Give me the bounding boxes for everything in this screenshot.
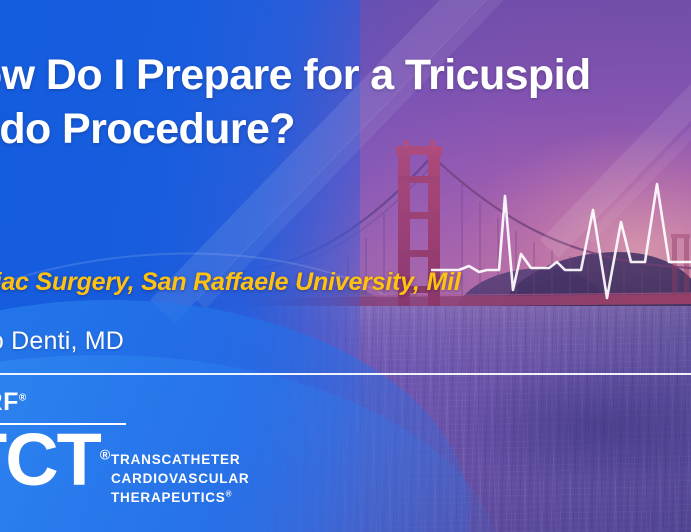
crf-text: CRF <box>0 388 19 416</box>
horizontal-divider <box>0 373 691 375</box>
tct-full-name: TRANSCATHETER CARDIOVASCULAR THERAPEUTIC… <box>111 450 249 507</box>
slide-title: ow Do I Prepare for a Tricuspid edo Proc… <box>0 48 691 156</box>
crf-registered-mark: ® <box>19 393 27 404</box>
presenter-name: olo Denti, MD <box>0 327 570 356</box>
tct-logo-lockup: CRF® TCT® TRANSCATHETER CARDIOVASCULAR T… <box>0 384 296 514</box>
tct-registered-mark: ® <box>100 446 110 462</box>
presentation-slide: ow Do I Prepare for a Tricuspid edo Proc… <box>0 0 691 532</box>
crf-wordmark: CRF® <box>0 388 27 417</box>
tct-text: TCT <box>0 418 100 501</box>
tct-wordmark: TCT® <box>0 426 110 494</box>
tct-full-name-registered-mark: ® <box>226 490 233 499</box>
affiliation-line: rdiac Surgery, San Raffaele University, … <box>0 268 691 297</box>
ecg-heartbeat-icon <box>431 150 691 330</box>
